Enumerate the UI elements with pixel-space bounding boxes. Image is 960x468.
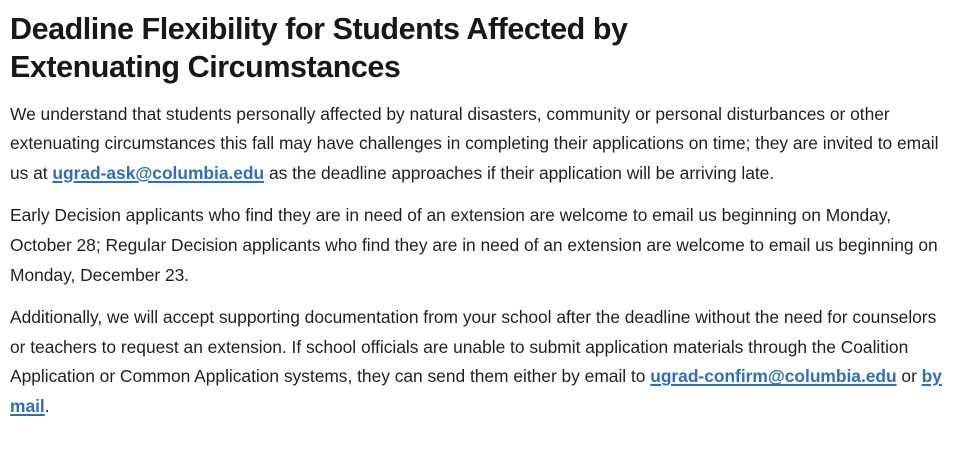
text-run: as the deadline approaches if their appl… <box>264 163 774 183</box>
link-supporting-documentation-0[interactable]: ugrad-confirm@columbia.edu <box>650 366 896 386</box>
paragraph-decision-dates: Early Decision applicants who find they … <box>10 201 948 290</box>
article-body: We understand that students personally a… <box>10 100 948 422</box>
text-run: Early Decision applicants who find they … <box>10 205 938 284</box>
text-run: . <box>45 396 50 416</box>
text-run: or <box>897 366 922 386</box>
page-title: Deadline Flexibility for Students Affect… <box>10 11 800 87</box>
link-intro-0[interactable]: ugrad-ask@columbia.edu <box>52 163 264 183</box>
article-page: Deadline Flexibility for Students Affect… <box>0 0 960 468</box>
paragraph-intro: We understand that students personally a… <box>10 100 948 189</box>
paragraph-supporting-documentation: Additionally, we will accept supporting … <box>10 303 948 421</box>
